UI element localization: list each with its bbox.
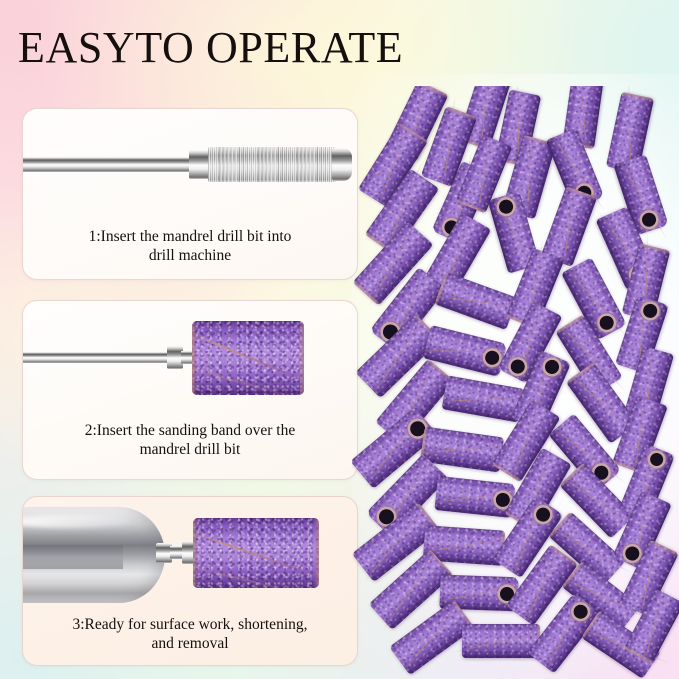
- step-2-caption-line-1: 2:Insert the sanding band over the: [31, 421, 349, 440]
- step-3-caption-line-2: and removal: [31, 634, 349, 653]
- mandrel-end-cap-icon: [332, 148, 352, 181]
- step-3-caption: 3:Ready for surface work, shortening, an…: [31, 615, 349, 653]
- sanding-band-left-rim: [192, 321, 197, 395]
- sanding-band-item: [434, 272, 517, 330]
- mandrel-knurled-body-icon: [208, 147, 336, 182]
- sanding-band-icon: [192, 321, 304, 395]
- step-3-illustration: [23, 497, 357, 609]
- step-1-illustration: [23, 109, 357, 219]
- step-card-3: 3:Ready for surface work, shortening, an…: [22, 496, 358, 666]
- mandrel-shaft-icon: [23, 157, 195, 172]
- step-3-caption-line-1: 3:Ready for surface work, shortening,: [31, 615, 349, 634]
- drill-machine-handpiece-icon: [23, 507, 165, 603]
- sanding-band-right-rim: [314, 518, 319, 588]
- step-1-caption-line-1: 1:Insert the mandrel drill bit into: [31, 227, 349, 246]
- sanding-band-right-rim: [299, 321, 304, 395]
- step-card-2: 2:Insert the sanding band over the mandr…: [22, 300, 358, 480]
- sanding-band-left-rim: [193, 518, 198, 588]
- step-2-caption-line-2: mandrel drill bit: [31, 440, 349, 459]
- page-title: EASYTO OPERATE: [18, 22, 403, 73]
- infographic-page: EASYTO OPERATE 1:Insert the mandrel dril…: [0, 0, 679, 679]
- sanding-band-item: [434, 476, 515, 518]
- handpiece-grip-band: [23, 545, 123, 569]
- step-1-caption: 1:Insert the mandrel drill bit into dril…: [31, 227, 349, 265]
- mandrel-shaft-icon: [23, 352, 171, 363]
- step-1-caption-line-2: drill machine: [31, 246, 349, 265]
- step-2-illustration: [23, 301, 357, 413]
- step-2-caption: 2:Insert the sanding band over the mandr…: [31, 421, 349, 459]
- step-card-1: 1:Insert the mandrel drill bit into dril…: [22, 108, 358, 280]
- sanding-band-icon: [193, 518, 319, 588]
- handpiece-highlight: [23, 515, 131, 528]
- product-photo-sanding-bands: [352, 86, 679, 679]
